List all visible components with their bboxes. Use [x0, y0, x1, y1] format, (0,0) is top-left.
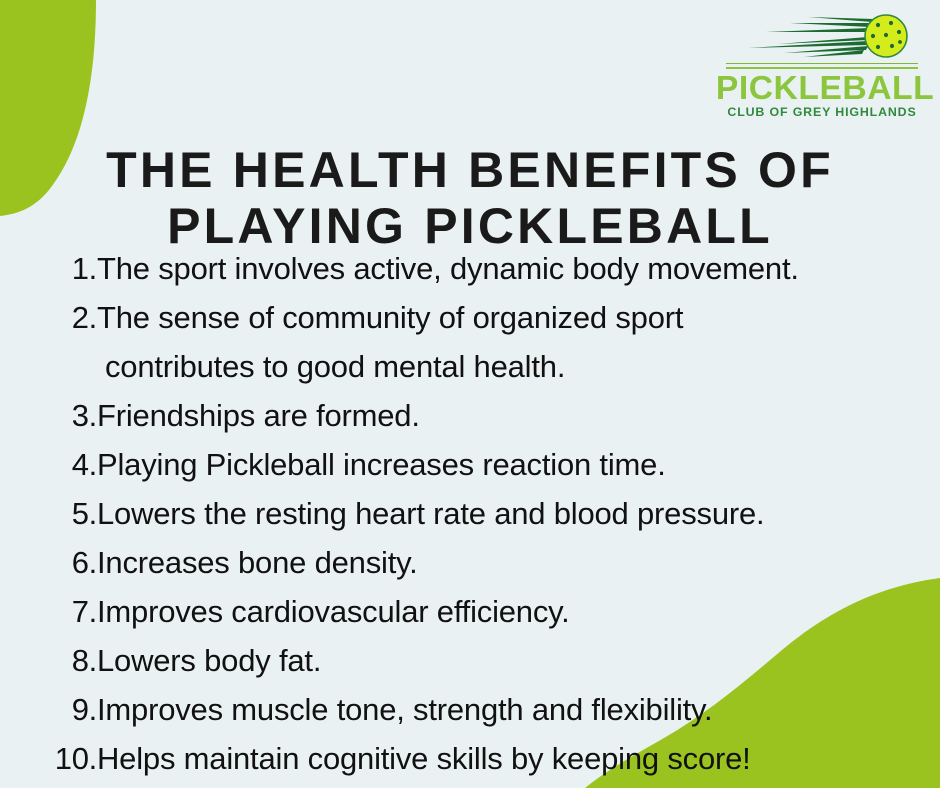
benefit-item: 4.Playing Pickleball increases reaction …	[40, 445, 940, 494]
benefit-number: 7.	[40, 592, 97, 632]
page-title: THE HEALTH BENEFITS OF PLAYING PICKLEBAL…	[0, 142, 940, 254]
benefit-text: The sense of community of organized spor…	[97, 298, 940, 338]
benefit-text: Helps maintain cognitive skills by keepi…	[97, 739, 940, 779]
benefit-item: 1.The sport involves active, dynamic bod…	[40, 249, 940, 298]
benefit-number: 4.	[40, 445, 97, 485]
benefit-text: Friendships are formed.	[97, 396, 940, 436]
page-title-line-2: PLAYING PICKLEBALL	[0, 198, 940, 254]
benefit-text: Improves cardiovascular efficiency.	[97, 592, 940, 632]
benefit-item: 5.Lowers the resting heart rate and bloo…	[40, 494, 940, 543]
benefit-number: 10.	[40, 739, 97, 779]
pickleball-icon	[718, 12, 926, 62]
club-logo[interactable]: PICKLEBALL CLUB OF GREY HIGHLANDS	[718, 12, 926, 120]
benefit-text: contributes to good mental health.	[97, 347, 940, 387]
page-title-line-1: THE HEALTH BENEFITS OF	[0, 142, 940, 198]
benefit-item: 9.Improves muscle tone, strength and fle…	[40, 690, 940, 739]
logo-subtitle: CLUB OF GREY HIGHLANDS	[718, 105, 926, 120]
logo-wordmark: PICKLEBALL	[716, 71, 928, 104]
benefit-item: 7.Improves cardiovascular efficiency.	[40, 592, 940, 641]
benefit-text: Playing Pickleball increases reaction ti…	[97, 445, 940, 485]
benefit-text: Lowers body fat.	[97, 641, 940, 681]
benefit-text: Lowers the resting heart rate and blood …	[97, 494, 940, 534]
benefit-number: 2.	[40, 298, 97, 338]
logo-divider-rules	[726, 62, 918, 69]
benefit-item: 8.Lowers body fat.	[40, 641, 940, 690]
logo-rule-top	[726, 63, 918, 64]
benefit-item: 6.Increases bone density.	[40, 543, 940, 592]
poster-canvas: PICKLEBALL CLUB OF GREY HIGHLANDS THE HE…	[0, 0, 940, 788]
benefit-item: contributes to good mental health.	[40, 347, 940, 396]
benefit-item: 3.Friendships are formed.	[40, 396, 940, 445]
motion-lines-icon	[748, 17, 874, 57]
benefit-item: 10.Helps maintain cognitive skills by ke…	[40, 739, 940, 788]
benefits-list: 1.The sport involves active, dynamic bod…	[0, 249, 940, 788]
benefit-item: 2.The sense of community of organized sp…	[40, 298, 940, 347]
benefit-text: Increases bone density.	[97, 543, 940, 583]
logo-ball-icon-wrap	[718, 12, 926, 62]
benefit-text: Improves muscle tone, strength and flexi…	[97, 690, 940, 730]
benefit-text: The sport involves active, dynamic body …	[97, 249, 940, 289]
benefit-number: 5.	[40, 494, 97, 534]
benefit-number: 9.	[40, 690, 97, 730]
benefit-number: 8.	[40, 641, 97, 681]
benefit-number: 1.	[40, 249, 97, 289]
benefit-number: 6.	[40, 543, 97, 583]
benefit-number: 3.	[40, 396, 97, 436]
